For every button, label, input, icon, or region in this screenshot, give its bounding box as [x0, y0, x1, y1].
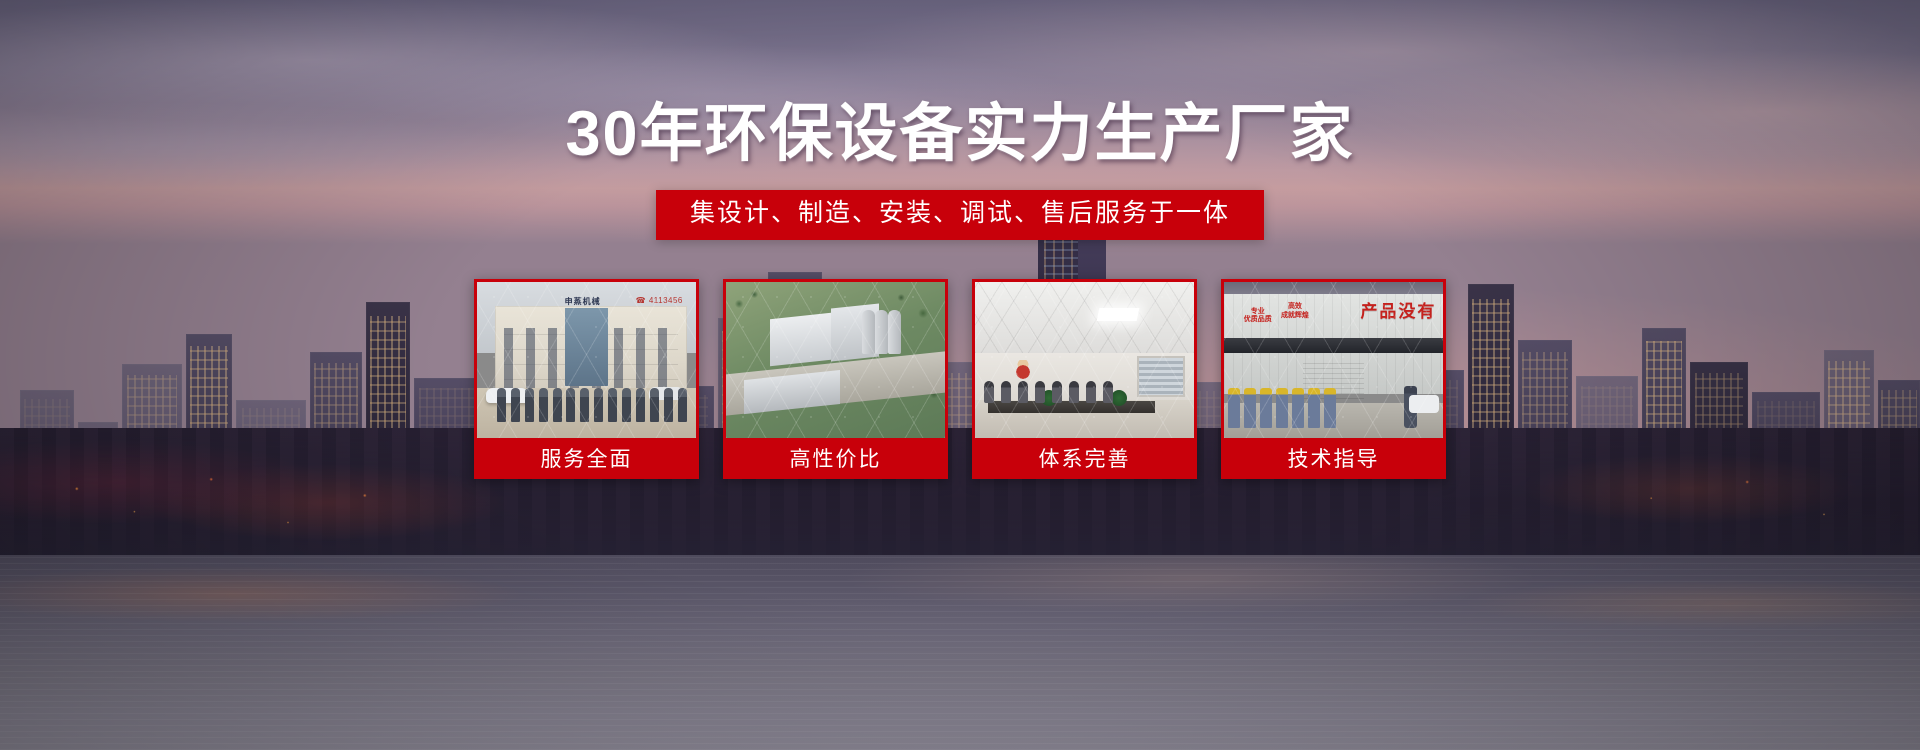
feature-card-1[interactable]: 申蒸机械 ☎ 4113456 服务全面: [474, 279, 699, 479]
factory-slogan-right: 高效成就辉煌: [1281, 303, 1309, 320]
feature-card-4-label: 技术指导: [1224, 438, 1443, 479]
aerial-plant-photo: [726, 282, 945, 438]
feature-card-2[interactable]: 高性价比: [723, 279, 948, 479]
feature-card-3-label: 体系完善: [975, 438, 1194, 479]
feature-card-3[interactable]: 体系完善: [972, 279, 1197, 479]
feature-card-2-label: 高性价比: [726, 438, 945, 479]
company-building-photo: 申蒸机械 ☎ 4113456: [477, 282, 696, 438]
banner-headline: 30年环保设备实力生产厂家: [565, 103, 1354, 166]
building-phone-text: ☎ 4113456: [636, 296, 683, 305]
building-sign-text: 申蒸机械: [565, 296, 601, 307]
banner-content: 30年环保设备实力生产厂家 集设计、制造、安装、调试、售后服务于一体 申蒸机械 …: [0, 0, 1920, 750]
factory-workers-photo: 产品没有 专业优质品质 高效成就辉煌: [1224, 282, 1443, 438]
feature-card-list: 申蒸机械 ☎ 4113456 服务全面: [474, 279, 1446, 479]
feature-card-4[interactable]: 产品没有 专业优质品质 高效成就辉煌 技术指导: [1221, 279, 1446, 479]
factory-slogan-left: 专业优质品质: [1244, 308, 1272, 325]
factory-banner-text: 产品没有: [1360, 297, 1436, 322]
banner-subtitle-bar: 集设计、制造、安装、调试、售后服务于一体: [656, 190, 1264, 240]
hero-banner: 30年环保设备实力生产厂家 集设计、制造、安装、调试、售后服务于一体 申蒸机械 …: [0, 0, 1920, 750]
feature-card-1-label: 服务全面: [477, 438, 696, 479]
office-interior-photo: [975, 282, 1194, 438]
